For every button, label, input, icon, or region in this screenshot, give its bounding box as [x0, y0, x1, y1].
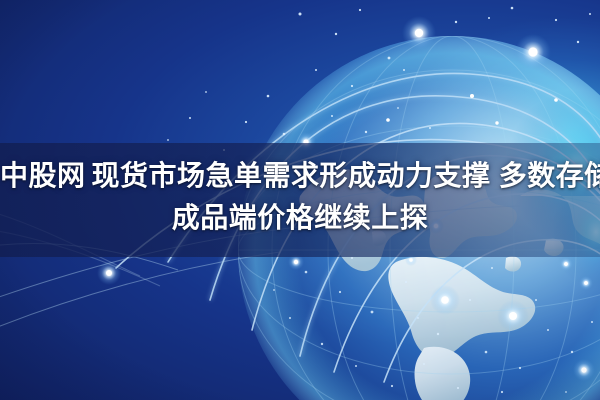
banner-image: 中股网现货市场急单需求形成动力支撑 多数存储 成品端价格继续上探 [0, 0, 600, 400]
headline-line-1: 中股网现货市场急单需求形成动力支撑 多数存储 [0, 155, 600, 197]
headline-line-1-text: 现货市场急单需求形成动力支撑 多数存储 [92, 160, 600, 191]
source-tag: 中股网 [0, 160, 86, 191]
headline-line-2: 成品端价格继续上探 [0, 197, 600, 239]
headline-text: 中股网现货市场急单需求形成动力支撑 多数存储 成品端价格继续上探 [0, 155, 600, 239]
